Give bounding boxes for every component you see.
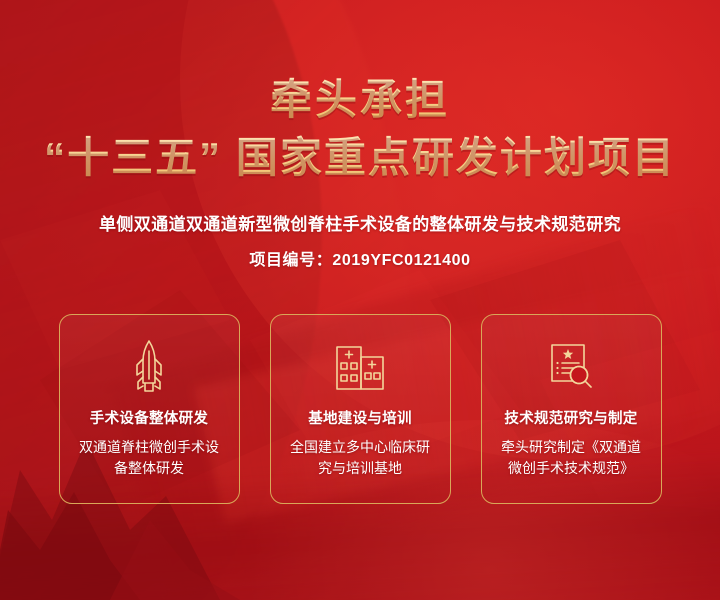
- feature-card-list: 手术设备整体研发 双通道脊柱微创手术设备整体研发: [0, 314, 720, 504]
- rocket-icon: [121, 339, 177, 395]
- feature-card-rd[interactable]: 手术设备整体研发 双通道脊柱微创手术设备整体研发: [59, 314, 240, 504]
- project-code: 项目编号：2019YFC0121400: [0, 246, 720, 270]
- headline-primary: 牵头承担: [0, 76, 720, 123]
- card-title: 技术规范研究与制定: [504, 407, 637, 428]
- poster-banner: 牵头承担 “十三五” 国家重点研发计划项目 单侧双通道双通道新型微创脊柱手术设备…: [0, 0, 720, 600]
- document-magnifier-icon: [543, 339, 599, 395]
- headline-secondary: “十三五” 国家重点研发计划项目: [0, 131, 720, 186]
- hospital-building-icon: [332, 339, 388, 395]
- project-name: 单侧双通道双通道新型微创脊柱手术设备的整体研发与技术规范研究: [0, 210, 720, 235]
- card-body: 双通道脊柱微创手术设备整体研发: [74, 437, 224, 479]
- card-body: 全国建立多中心临床研究与培训基地: [285, 437, 435, 479]
- card-title: 手术设备整体研发: [90, 407, 208, 428]
- feature-card-standards[interactable]: 技术规范研究与制定 牵头研究制定《双通道微创手术技术规范》: [481, 314, 662, 504]
- card-body: 牵头研究制定《双通道微创手术技术规范》: [496, 437, 646, 479]
- feature-card-training-base[interactable]: 基地建设与培训 全国建立多中心临床研究与培训基地: [270, 314, 451, 504]
- card-title: 基地建设与培训: [308, 407, 412, 428]
- headline-block: 牵头承担 “十三五” 国家重点研发计划项目: [0, 0, 720, 186]
